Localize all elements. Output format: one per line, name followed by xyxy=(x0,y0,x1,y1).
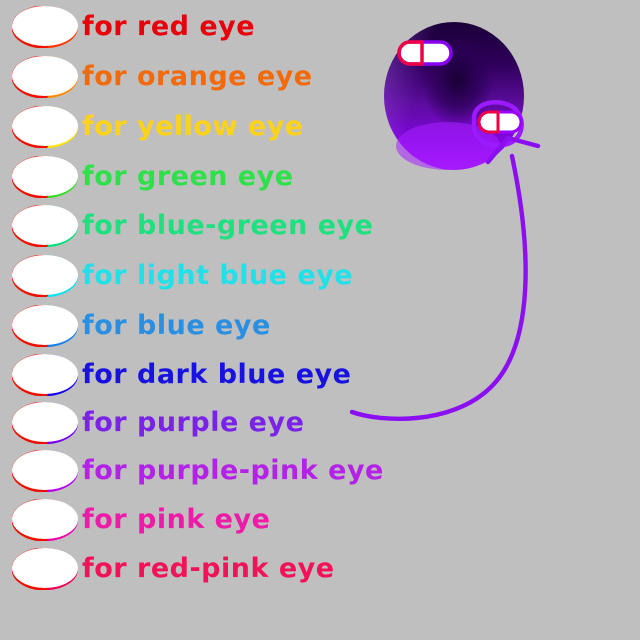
color-swatch-oval[interactable] xyxy=(12,56,78,96)
swatch-fill xyxy=(12,6,78,46)
color-swatch-oval[interactable] xyxy=(12,450,78,490)
eye-color-option-label: for purple eye xyxy=(82,409,304,436)
eye-color-option-row[interactable]: for light blue eye xyxy=(0,253,353,297)
eye-color-option-row[interactable]: for dark blue eye xyxy=(0,352,351,396)
eye-color-option-label: for blue eye xyxy=(82,312,271,339)
swatch-fill xyxy=(12,499,78,539)
swatch-fill xyxy=(12,205,78,245)
lower-eye-highlight-icon xyxy=(479,112,521,132)
swatch-fill xyxy=(12,450,78,490)
eye-color-option-row[interactable]: for blue eye xyxy=(0,303,271,347)
swatch-fill xyxy=(12,354,78,394)
eye-color-option-label: for pink eye xyxy=(82,506,270,533)
eye-color-option-label: for red-pink eye xyxy=(82,555,335,582)
swatch-fill xyxy=(12,106,78,146)
eye-color-option-row[interactable]: for purple-pink eye xyxy=(0,448,384,492)
color-swatch-oval[interactable] xyxy=(12,106,78,146)
eye-color-option-label: for yellow eye xyxy=(82,113,304,140)
swatch-fill xyxy=(12,402,78,442)
swatch-fill xyxy=(12,56,78,96)
color-swatch-oval[interactable] xyxy=(12,305,78,345)
swatch-fill xyxy=(12,548,78,588)
eye-color-option-label: for red eye xyxy=(82,13,255,40)
eye-color-option-row[interactable]: for orange eye xyxy=(0,54,313,98)
eye-color-option-label: for light blue eye xyxy=(82,262,353,289)
eye-color-option-label: for blue-green eye xyxy=(82,212,373,239)
color-swatch-oval[interactable] xyxy=(12,205,78,245)
swatch-fill xyxy=(12,156,78,196)
eye-color-option-row[interactable]: for yellow eye xyxy=(0,104,304,148)
eye-color-option-row[interactable]: for blue-green eye xyxy=(0,203,373,247)
color-swatch-oval[interactable] xyxy=(12,6,78,46)
eye-color-option-label: for green eye xyxy=(82,163,294,190)
color-swatch-oval[interactable] xyxy=(12,548,78,588)
eye-color-option-row[interactable]: for red eye xyxy=(0,4,255,48)
color-swatch-oval[interactable] xyxy=(12,499,78,539)
purple-eye-blob[interactable] xyxy=(378,18,534,180)
upper-eye-highlight-icon xyxy=(399,42,451,64)
eye-color-option-label: for dark blue eye xyxy=(82,361,351,388)
color-swatch-oval[interactable] xyxy=(12,255,78,295)
eye-color-option-row[interactable]: for green eye xyxy=(0,154,294,198)
eye-color-option-row[interactable]: for purple eye xyxy=(0,400,304,444)
eye-color-option-row[interactable]: for red-pink eye xyxy=(0,546,335,590)
swatch-fill xyxy=(12,255,78,295)
canvas-root: for red eyefor orange eyefor yellow eyef… xyxy=(0,0,640,640)
color-swatch-oval[interactable] xyxy=(12,402,78,442)
color-swatch-oval[interactable] xyxy=(12,156,78,196)
eye-color-option-row[interactable]: for pink eye xyxy=(0,497,270,541)
eye-color-option-label: for orange eye xyxy=(82,63,313,90)
color-swatch-oval[interactable] xyxy=(12,354,78,394)
arrow-curve-path xyxy=(352,156,526,419)
eye-color-option-label: for purple-pink eye xyxy=(82,457,384,484)
swatch-fill xyxy=(12,305,78,345)
